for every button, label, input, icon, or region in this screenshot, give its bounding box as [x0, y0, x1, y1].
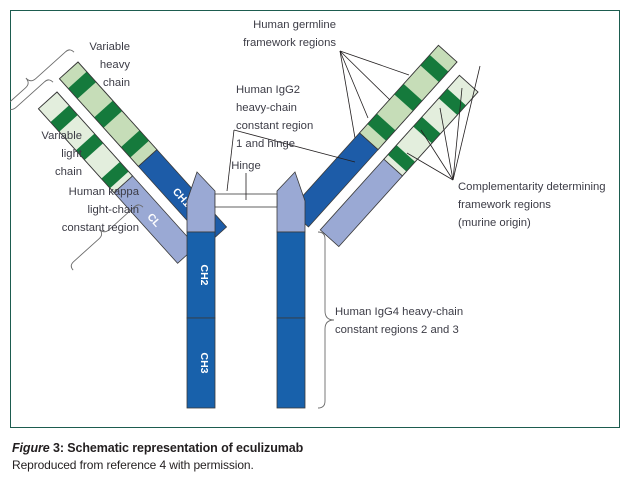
human-igg4-label: Human IgG4 heavy-chain constant regions …	[335, 306, 463, 336]
variable-light-chain-line-0: Variable	[41, 130, 82, 142]
variable-heavy-chain-line-0: Variable	[89, 41, 130, 53]
caption-figure-number: 3	[53, 441, 60, 455]
human-igg4-line-0: Human IgG4 heavy-chain	[335, 306, 463, 318]
cdr-murine-line-0: Complementarity determining	[458, 181, 606, 193]
cdr-murine-label: Complementarity determining framework re…	[458, 181, 606, 229]
cdr-murine-line-1: framework regions	[458, 199, 551, 211]
human-kappa-line-0: Human kappa	[69, 186, 140, 198]
human-kappa-line-1: light-chain	[88, 204, 140, 216]
variable-light-chain-line-1: light	[61, 148, 83, 160]
caption-credit-line: Reproduced from reference 4 with permiss…	[12, 457, 612, 473]
variable-light-chain-line-2: chain	[55, 166, 82, 178]
variable-light-chain-label: Variable light chain	[41, 130, 82, 178]
human-kappa-line-2: constant region	[62, 222, 139, 234]
human-igg2-line-2: constant region	[236, 120, 313, 132]
cdr-murine-line-2: (murine origin)	[458, 217, 531, 229]
human-igg2-line-0: Human IgG2	[236, 84, 300, 96]
variable-heavy-chain-line-2: chain	[103, 77, 130, 89]
human-igg2-label: Human IgG2 heavy-chain constant region 1…	[236, 84, 313, 150]
ch2-bar-label: CH2	[198, 264, 210, 285]
caption-figure-word: Figure	[12, 441, 50, 455]
variable-heavy-chain-line-1: heavy	[100, 59, 130, 71]
caption-title-line: Figure 3: Schematic representation of ec…	[12, 440, 612, 456]
hinge-label: Hinge	[231, 160, 261, 172]
figure-container: CH1 CL	[0, 0, 633, 485]
human-igg4-line-1: constant regions 2 and 3	[335, 324, 459, 336]
human-igg2-line-1: heavy-chain	[236, 102, 297, 114]
caption-title-text: : Schematic representation of eculizumab	[60, 441, 303, 455]
ch3-bar-label: CH3	[198, 352, 210, 373]
human-kappa-label: Human kappa light-chain constant region	[62, 186, 140, 234]
human-igg2-line-3: 1 and hinge	[236, 138, 295, 150]
antibody-schematic-diagram: CH1 CL	[10, 10, 620, 428]
figure-caption: Figure 3: Schematic representation of ec…	[12, 440, 612, 473]
right-ch3-region	[277, 318, 305, 408]
human-germline-line-0: Human germline	[253, 19, 336, 31]
left-hinge-elbow	[187, 172, 215, 232]
right-ch2-region	[277, 232, 305, 318]
human-germline-label: Human germline framework regions	[243, 19, 336, 49]
right-hinge-elbow	[277, 172, 305, 232]
human-igg4-brace	[318, 232, 334, 408]
human-germline-line-1: framework regions	[243, 37, 336, 49]
